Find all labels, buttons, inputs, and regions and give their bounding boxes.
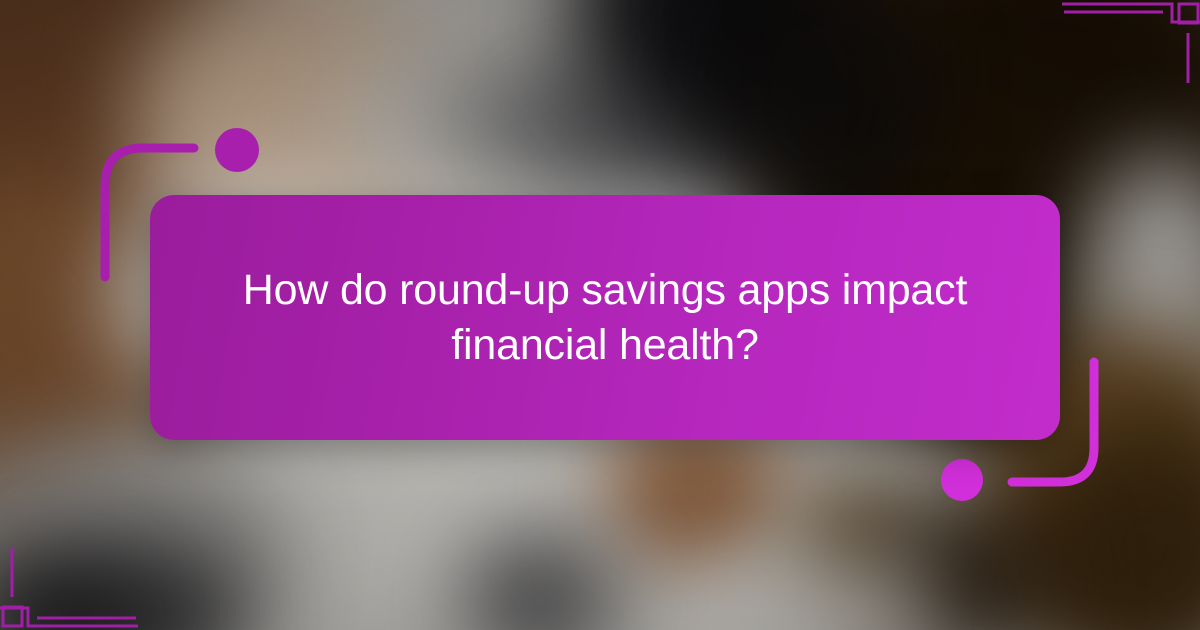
page-title: How do round-up savings apps impact fina… xyxy=(225,263,985,372)
social-card-canvas: How do round-up savings apps impact fina… xyxy=(0,0,1200,630)
headline-card[interactable]: How do round-up savings apps impact fina… xyxy=(150,195,1060,440)
